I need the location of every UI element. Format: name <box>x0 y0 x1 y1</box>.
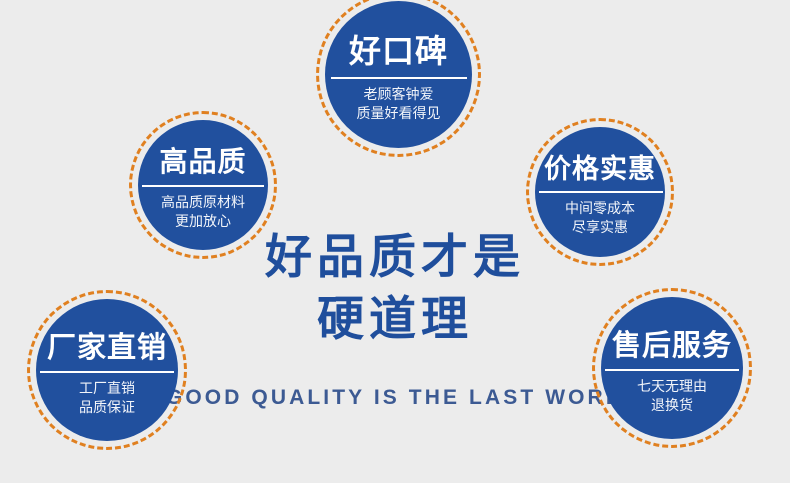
badge-divider <box>331 77 467 79</box>
quality-promo-banner: 好品质才是 硬道理 GOOD QUALITY IS THE LAST WORD … <box>0 0 790 483</box>
badge-subtitle-line-1: 中间零成本 <box>539 199 661 218</box>
badge-title: 厂家直销 <box>40 324 174 366</box>
badge-after-sales-service: 售后服务 七天无理由 退换货 <box>592 288 752 448</box>
badge-subtitle-line-2: 更加放心 <box>142 212 264 231</box>
badge-subtitle-line-2: 退换货 <box>605 396 739 415</box>
badge-disc: 价格实惠 中间零成本 尽享实惠 <box>535 127 665 257</box>
badge-divider <box>40 371 174 373</box>
badge-affordable-price: 价格实惠 中间零成本 尽享实惠 <box>526 118 674 266</box>
badge-content: 好口碑 老顾客钟爱 质量好看得见 <box>325 26 472 123</box>
badge-divider <box>539 191 663 193</box>
badge-subtitle-line-2: 尽享实惠 <box>539 218 661 237</box>
badge-disc: 高品质 高品质原材料 更加放心 <box>138 120 268 250</box>
badge-content: 厂家直销 工厂直销 品质保证 <box>36 324 178 417</box>
badge-subtitle-line-2: 品质保证 <box>40 398 174 417</box>
badge-subtitle-line-1: 工厂直销 <box>40 379 174 398</box>
badge-divider <box>605 369 739 371</box>
badge-content: 高品质 高品质原材料 更加放心 <box>138 140 268 231</box>
badge-disc: 好口碑 老顾客钟爱 质量好看得见 <box>325 1 472 148</box>
badge-subtitle-line-1: 老顾客钟爱 <box>329 85 468 104</box>
badge-title: 价格实惠 <box>539 147 661 186</box>
badge-high-quality: 高品质 高品质原材料 更加放心 <box>129 111 277 259</box>
badge-subtitle-line-1: 高品质原材料 <box>142 193 264 212</box>
badge-subtitle-line-1: 七天无理由 <box>605 377 739 396</box>
badge-disc: 厂家直销 工厂直销 品质保证 <box>36 299 178 441</box>
badge-title: 好口碑 <box>329 26 468 72</box>
badge-divider <box>142 185 264 187</box>
badge-content: 售后服务 七天无理由 退换货 <box>601 322 743 415</box>
badge-factory-direct-sales: 厂家直销 工厂直销 品质保证 <box>27 290 187 450</box>
badge-good-reputation: 好口碑 老顾客钟爱 质量好看得见 <box>316 0 481 157</box>
badge-content: 价格实惠 中间零成本 尽享实惠 <box>535 147 665 237</box>
badge-subtitle-line-2: 质量好看得见 <box>329 104 468 123</box>
badge-title: 售后服务 <box>605 322 739 364</box>
badge-title: 高品质 <box>142 140 264 180</box>
badge-disc: 售后服务 七天无理由 退换货 <box>601 297 743 439</box>
